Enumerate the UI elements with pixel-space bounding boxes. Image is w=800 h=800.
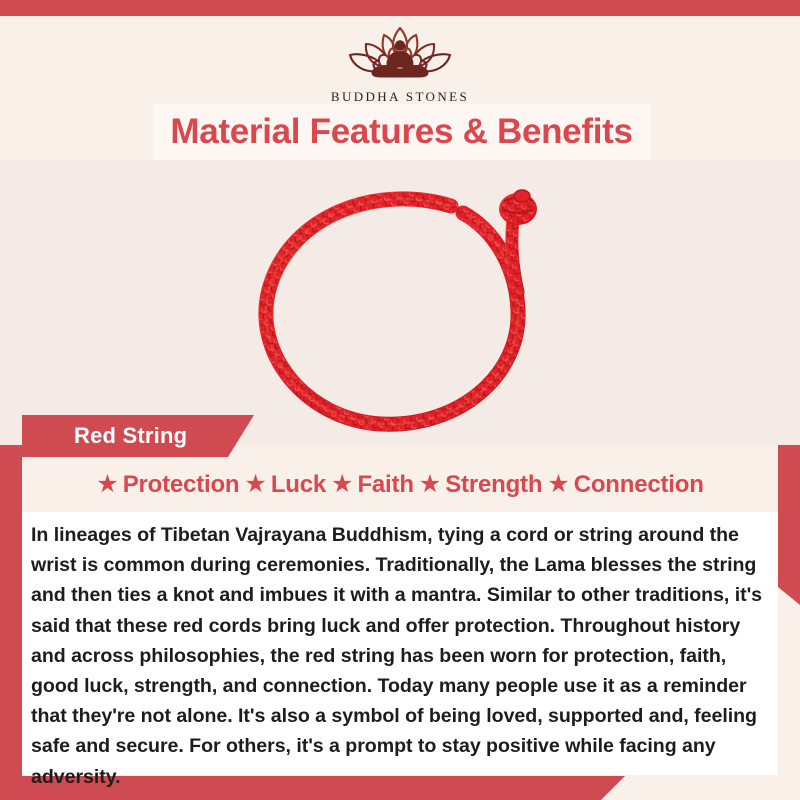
- brand-wordmark: BUDDHA STONES: [331, 89, 469, 105]
- star-icon: ★: [96, 472, 118, 497]
- infographic-poster: BUDDHA STONES Material Features & Benefi…: [0, 0, 800, 800]
- title-banner: Material Features & Benefits: [153, 104, 650, 160]
- star-icon: ★: [331, 472, 353, 497]
- decorative-top-bar: [0, 0, 800, 16]
- benefit-item-luck: ★ Luck: [244, 471, 326, 499]
- star-icon: ★: [244, 472, 266, 497]
- benefit-item-strength: ★ Strength: [419, 471, 542, 499]
- product-image-stage: [0, 160, 800, 445]
- benefits-list: ★ Protection ★ Luck ★ Faith ★ Strength ★…: [22, 463, 778, 507]
- benefit-label: Strength: [445, 471, 542, 499]
- benefit-label: Connection: [574, 471, 704, 499]
- description-panel: In lineages of Tibetan Vajrayana Buddhis…: [22, 512, 778, 775]
- benefit-item-protection: ★ Protection: [96, 471, 239, 499]
- red-braided-string-bracelet-icon: [218, 168, 598, 443]
- star-icon: ★: [419, 472, 441, 497]
- page-title: Material Features & Benefits: [170, 112, 632, 152]
- benefit-label: Luck: [271, 471, 326, 499]
- lotus-meditation-icon: [325, 22, 475, 86]
- star-icon: ★: [547, 472, 569, 497]
- benefit-item-faith: ★ Faith: [331, 471, 414, 499]
- benefit-label: Protection: [123, 471, 240, 499]
- benefit-item-connection: ★ Connection: [547, 471, 703, 499]
- product-label-ribbon: Red String: [22, 415, 254, 457]
- product-label-text: Red String: [74, 423, 187, 449]
- benefit-label: Faith: [357, 471, 413, 499]
- description-body: In lineages of Tibetan Vajrayana Buddhis…: [31, 520, 764, 792]
